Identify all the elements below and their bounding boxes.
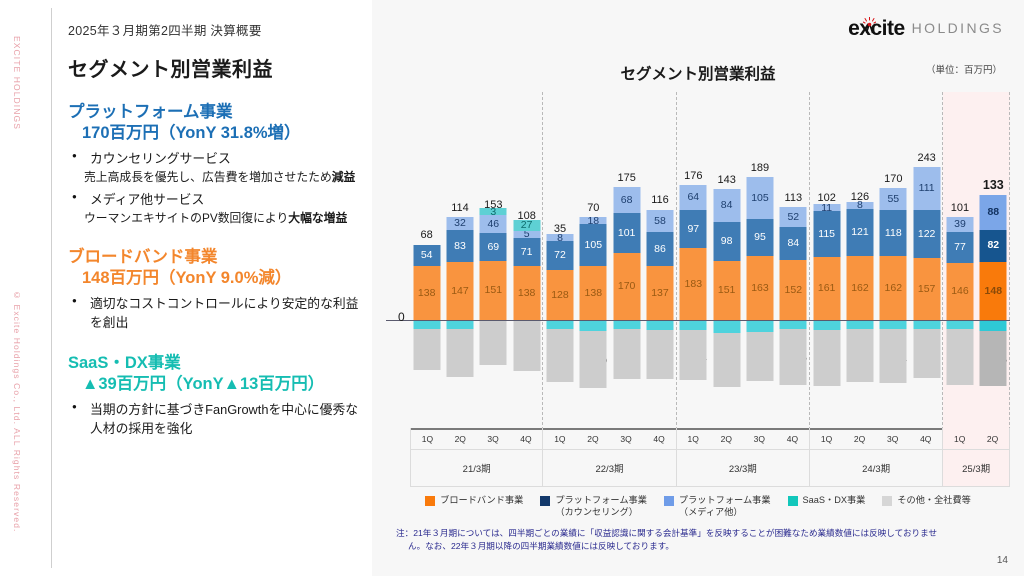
bar-segment-saas-negative [546,320,573,329]
positive-stack: 1378658 [646,210,673,321]
bar-column[interactable]: 1385468▲17▲106 [410,92,443,430]
segment-heading-line2: ▲39百万円（YonY▲13百万円） [68,374,368,395]
positive-stack: 17010168 [613,187,640,320]
segment-bullets-platform: カウンセリングサービス売上高成長を優先し、広告費を増加させたため減益メディア他サ… [68,150,368,227]
negative-stack [713,320,740,387]
bar-column[interactable]: 1467739101▲14▲147 [943,92,976,430]
bar-segment-value: 151 [485,285,503,296]
logo-spark-icon [863,17,876,34]
bar-segment-other [946,329,973,385]
bar-column[interactable]: 1381051870▲41▲150 [577,92,610,430]
negative-stack [546,320,573,382]
negative-stack [946,320,973,385]
bar-segment-value: 72 [554,250,566,261]
bar-segment-value: 69 [487,242,499,253]
bar-total-label: 189 [751,162,769,174]
bar-segment-other [613,329,640,379]
bar-segment-bb: 148 [980,262,1007,320]
bar-total-label: 175 [617,172,635,184]
positive-stack: 1621218 [846,202,873,320]
positive-stack: 1467739 [946,217,973,320]
footnote-line-2: ん。なお、22年３月期以降の四半期業績数値には反映しております。 [396,540,1004,553]
bar-total-label: 101 [951,202,969,214]
bar-segment-bb: 138 [513,266,540,320]
bar-groups: 1385468▲17▲1061478332114▲22▲126151694631… [410,92,1010,430]
positive-stack: 16211855 [880,188,907,320]
positive-stack: 1478332 [446,217,473,320]
bar-segment-bb: 152 [780,260,807,320]
bar-segment-other [646,330,673,379]
bar-segment-value: 84 [721,200,733,211]
bar-segment-other [813,330,840,386]
bar-segment-value: 138 [418,288,436,299]
bar-segment-value: 183 [685,279,703,290]
bar-segment-pf_media: 11 [813,204,840,211]
bar-segment-pf_counseling: 95 [746,219,773,256]
list-item: 当期の方針に基づきFanGrowthを中心に優秀な人材の採用を強化 [68,401,368,439]
negative-stack [446,320,473,377]
bar-segment-pf_media: 46 [480,215,507,233]
axis-quarter-label: 1Q [543,428,576,449]
positive-stack: 157122111 [913,167,940,320]
axis-groups: 1Q2Q3Q4Q21/3期1Q2Q3Q4Q22/3期1Q2Q3Q4Q23/3期1… [410,428,1010,487]
bullet-main-text: 当期の方針に基づきFanGrowthを中心に優秀な人材の採用を強化 [90,402,358,436]
bar-total-label: 143 [717,174,735,186]
bar-segment-bb: 151 [713,261,740,320]
negative-stack [613,320,640,379]
bar-segment-value: 122 [918,229,936,240]
bar-segment-bb: 161 [813,257,840,320]
negative-stack [746,320,773,381]
bar-segment-value: 52 [787,212,799,223]
bar-column[interactable]: 1621218126▲25▲139 [843,92,876,430]
rail-brand-text: EXCITE HOLDINGS [12,36,22,130]
bar-segment-value: 147 [451,286,469,297]
positive-stack: 1519884 [713,189,740,320]
bar-segment-pf_counseling: 115 [813,211,840,256]
bar-segment-other [680,330,707,380]
bar-total-label: 116 [651,194,669,206]
bar-segment-pf_media: 18 [580,217,607,224]
axis-fiscal-year-label: 23/3期 [677,449,809,486]
rail-copyright-text: © Excite Holdings Co., Ltd. ALL Rights R… [12,290,22,533]
bar-segment-value: 138 [518,288,536,299]
bullet-sub-text: ウーマンエキサイトのPV数回復により大幅な増益 [84,210,368,227]
axis-quarter-row: 1Q2Q3Q4Q [810,428,942,449]
bar-group-22/3期: 12872835▲34▲1391381051870▲41▲15017010168… [543,92,676,430]
bar-segment-value: 86 [654,244,666,255]
bar-segment-value: 163 [751,283,769,294]
excite-holdings-logo: excite HOLDINGS [848,18,1004,39]
bar-segment-bb: 128 [546,270,573,320]
bar-column[interactable]: 1528452113▲29▲146 [777,92,810,430]
bar-segment-saas-negative [580,320,607,331]
axis-group-23/3期: 1Q2Q3Q4Q23/3期 [677,428,810,487]
bar-segment-other [880,329,907,383]
negative-stack [980,320,1007,386]
page-title: セグメント別営業利益 [68,53,368,82]
segment-heading-broadband: ブロードバンド事業148百万円（YonY 9.0%減） [68,247,368,290]
bar-column[interactable]: 15169463153▲117 [477,92,510,430]
bar-total-label: 126 [851,191,869,203]
legend-swatch [664,496,674,506]
bar-segment-pf_media: 88 [980,195,1007,230]
segment-commentary-list: プラットフォーム事業170百万円（YonY 31.8%増）カウンセリングサービス… [68,102,368,439]
bar-segment-bb: 157 [913,258,940,320]
bar-total-label: 114 [451,202,469,214]
axis-fiscal-year-label: 22/3期 [543,449,675,486]
zero-axis-label: 0 [398,310,405,324]
bar-segment-value: 151 [718,285,736,296]
positive-stack: 128728 [546,234,573,320]
axis-quarter-label: 1Q [411,428,444,449]
bar-segment-pf_media: 84 [713,189,740,222]
axis-group-25/3期: 1Q2Q25/3期 [943,428,1010,487]
positive-stack: 1488288 [980,195,1007,320]
legend-swatch [882,496,892,506]
negative-stack [913,320,940,378]
bar-column[interactable]: 1488288133▲39▲146 [977,92,1010,430]
bar-column[interactable]: 13871527108▲134 [510,92,543,430]
bar-total-label: 68 [421,229,433,241]
chart-x-axis: 1Q2Q3Q4Q21/3期1Q2Q3Q4Q22/3期1Q2Q3Q4Q23/3期1… [410,428,1010,487]
bar-segment-saas-negative [713,320,740,333]
legend-item: その他・全社費等 [882,494,971,519]
negative-stack [680,320,707,380]
legend-item: SaaS・DX事業 [788,494,866,519]
bar-segment-bb: 137 [646,266,673,320]
axis-quarter-label: 3Q [477,428,510,449]
bar-segment-saas-negative [446,320,473,329]
axis-quarter-label: 4Q [643,428,676,449]
axis-quarter-label: 2Q [710,428,743,449]
axis-quarter-label: 4Q [776,428,809,449]
bar-segment-pf_counseling: 121 [846,209,873,257]
bar-segment-value: 11 [821,203,832,214]
bar-segment-pf_media: 8 [546,234,573,241]
bar-segment-value: 111 [919,183,935,194]
bar-column[interactable]: 157122111243▲17▲129 [910,92,943,430]
segment-block-saas: SaaS・DX事業▲39百万円（YonY▲13百万円）当期の方針に基づきFanG… [68,353,368,439]
bar-total-label: 102 [817,192,835,204]
bar-segment-bb: 138 [580,266,607,320]
bar-segment-pf_counseling: 71 [513,238,540,266]
axis-quarter-label: 1Q [810,428,843,449]
positive-stack: 13854 [413,245,440,321]
chart-panel: excite HOLDINGS セグメント別営業利益 （単位：百万円） [372,0,1024,576]
bar-column[interactable]: 1478332114▲22▲126 [443,92,476,430]
bar-segment-value: 55 [887,194,899,205]
axis-group-22/3期: 1Q2Q3Q4Q22/3期 [543,428,676,487]
bar-segment-value: 82 [987,240,999,251]
bar-column[interactable]: 1839764176▲37▲131 [677,92,710,430]
bar-total-label: 170 [884,173,902,185]
bar-column[interactable]: 12872835▲34▲139 [543,92,576,430]
list-item: 適切なコストコントロールにより安定的な利益を創出 [68,295,368,333]
bar-segment-value: 88 [987,207,999,218]
bar-segment-pf_counseling: 54 [413,245,440,266]
bar-segment-value: 64 [687,192,699,203]
negative-stack [846,320,873,382]
bar-group-24/3期: 16111511102▲38▲1461621218126▲25▲13916211… [810,92,943,430]
footnote-line-1: 注：21年３月期については、四半期ごとの業績に「収益認識に関する会計基準」を反映… [396,528,937,538]
bar-segment-value: 115 [818,229,835,240]
bar-segment-value: 105 [751,193,769,204]
bar-segment-value: 97 [687,224,699,235]
bar-segment-value: 32 [454,218,466,229]
bar-segment-value: 83 [454,241,466,252]
bar-segment-value: 162 [885,283,903,294]
bar-segment-pf_counseling: 86 [646,232,673,266]
segment-heading-saas: SaaS・DX事業▲39百万円（YonY▲13百万円） [68,353,368,396]
bar-segment-value: 137 [651,288,669,299]
bar-segment-value: 77 [954,242,966,253]
bar-segment-value: 18 [587,216,599,227]
axis-quarter-row: 1Q2Q3Q4Q [677,428,809,449]
bar-segment-saas-negative [413,320,440,329]
bar-segment-pf_media: 68 [613,187,640,214]
legend-item: ブロードバンド事業 [425,494,523,519]
left-rail: EXCITE HOLDINGS © Excite Holdings Co., L… [0,0,44,576]
negative-stack [813,320,840,386]
positive-stack: 1839764 [680,185,707,320]
axis-quarter-label: 3Q [876,428,909,449]
bar-segment-value: 152 [785,285,803,296]
axis-fiscal-year-label: 24/3期 [810,449,942,486]
axis-quarter-label: 1Q [943,428,976,449]
bar-total-label: 35 [554,223,566,235]
bar-segment-other [746,332,773,381]
axis-quarter-label: 3Q [743,428,776,449]
bar-segment-saas-negative [813,320,840,330]
bar-segment-pf_counseling: 118 [880,210,907,256]
bar-segment-pf_media: 8 [846,202,873,209]
bar-segment-saas-negative [646,320,673,330]
axis-group-21/3期: 1Q2Q3Q4Q21/3期 [410,428,543,487]
logo-wordmark: excite [848,17,905,40]
segment-heading-line1: ブロードバンド事業 [68,248,217,266]
bar-segment-saas-negative [613,320,640,329]
segment-heading-line2: 148百万円（YonY 9.0%減） [68,268,368,289]
bar-column[interactable]: 1378658116▲37▲128 [643,92,676,430]
bar-segment-pf_media: 64 [680,185,707,210]
segment-block-broadband: ブロードバンド事業148百万円（YonY 9.0%減）適切なコストコントロールに… [68,247,368,333]
bar-segment-other [413,329,440,370]
bar-segment-pf_media: 32 [446,217,473,230]
bar-column[interactable]: 17010168175▲35▲130 [610,92,643,430]
bar-segment-bb: 151 [480,261,507,320]
bar-segment-value: 138 [585,288,603,299]
bar-column[interactable]: 1519884143▲50▲141 [710,92,743,430]
axis-quarter-label: 2Q [444,428,477,449]
rail-divider [51,8,52,568]
axis-quarter-label: 2Q [576,428,609,449]
bar-segment-value: 162 [851,283,869,294]
segment-heading-line1: プラットフォーム事業 [68,103,233,121]
bar-total-label: 243 [917,152,935,164]
bar-segment-value: 39 [954,219,966,230]
bullet-main-text: 適切なコストコントロールにより安定的な利益を創出 [90,296,358,330]
positive-stack: 15169463 [480,208,507,320]
negative-stack [780,320,807,385]
legend-label: その他・全社費等 [897,494,971,506]
bar-segment-other [713,333,740,387]
left-content-column: 2025年３月期第2四半期 決算概要 セグメント別営業利益 プラットフォーム事業… [68,20,368,439]
segment-heading-line1: SaaS・DX事業 [68,354,181,372]
bar-segment-value: 121 [851,227,869,238]
segment-bullets-broadband: 適切なコストコントロールにより安定的な利益を創出 [68,295,368,333]
chart-footnote: 注：21年３月期については、四半期ごとの業績に「収益認識に関する会計基準」を反映… [396,527,1004,553]
bar-segment-saas-negative [746,320,773,332]
bar-segment-pf_counseling: 83 [446,230,473,263]
negative-stack [413,320,440,370]
positive-stack: 16111511 [813,204,840,320]
negative-stack [580,320,607,388]
bar-segment-pf_media: 111 [913,167,940,211]
bar-segment-pf_media: 55 [880,188,907,210]
bar-segment-value: 98 [721,236,733,247]
legend-label: プラットフォーム事業（カウンセリング） [555,494,647,519]
group-divider [1009,92,1010,430]
bar-group-25/3期: 1467739101▲14▲1471488288133▲39▲146 [943,92,1010,430]
bar-segment-value: 170 [618,281,636,292]
legend-label: SaaS・DX事業 [803,494,866,506]
bar-segment-other [513,320,540,371]
bullet-main-text: カウンセリングサービス [90,151,231,166]
bar-segment-saas-negative [946,320,973,329]
bullet-main-text: メディア他サービス [90,192,204,207]
segment-heading-line2: 170百万円（YonY 31.8%増） [68,123,368,144]
bar-total-label: 108 [517,210,535,222]
bar-segment-saas-negative [913,320,940,329]
bar-segment-value: 68 [621,195,633,206]
legend-swatch [788,496,798,506]
segment-heading-platform: プラットフォーム事業170百万円（YonY 31.8%増） [68,102,368,145]
chart-legend: ブロードバンド事業プラットフォーム事業（カウンセリング）プラットフォーム事業（メ… [372,494,1024,519]
bar-segment-saas-negative [846,320,873,329]
list-item: メディア他サービスウーマンエキサイトのPV数回復により大幅な増益 [68,191,368,227]
legend-label: プラットフォーム事業（メディア他） [679,494,771,519]
positive-stack: 13871527 [513,220,540,320]
bar-column[interactable]: 16211855170▲24▲141 [877,92,910,430]
bar-segment-pf_counseling: 77 [946,232,973,262]
bullet-sub-emphasis: 大幅な増益 [288,211,347,225]
bar-total-label: 133 [983,178,1004,192]
bar-segment-pf_counseling: 98 [713,222,740,261]
bar-segment-saas-negative [780,320,807,329]
bar-segment-value: 71 [521,247,533,258]
axis-quarter-row: 1Q2Q3Q4Q [543,428,675,449]
bar-segment-pf_media: 39 [946,217,973,232]
axis-quarter-label: 1Q [677,428,710,449]
bar-segment-saas-negative [980,320,1007,331]
bar-total-label: 113 [785,192,803,204]
bar-segment-pf_media: 105 [746,177,773,218]
bar-segment-other [546,329,573,382]
bar-group-23/3期: 1839764176▲37▲1311519884143▲50▲141163951… [677,92,810,430]
negative-stack [880,320,907,383]
chart-plot-area: 0 1385468▲17▲1061478332114▲22▲1261516946… [386,92,1010,430]
legend-label: ブロードバンド事業 [440,494,523,506]
bar-total-label: 70 [587,202,599,214]
logo-mark-text: excite [848,18,905,39]
chart-unit-label: （単位：百万円） [926,62,1002,76]
bar-total-label: 176 [684,170,702,182]
page-number: 14 [997,555,1008,566]
legend-sublabel: （メディア他） [679,506,771,518]
list-item: カウンセリングサービス売上高成長を優先し、広告費を増加させたため減益 [68,150,368,186]
bar-segment-bb: 146 [946,263,973,320]
segment-block-platform: プラットフォーム事業170百万円（YonY 31.8%増）カウンセリングサービス… [68,102,368,227]
positive-stack: 13810518 [580,217,607,320]
bar-segment-value: 146 [951,286,969,297]
axis-quarter-row: 1Q2Q3Q4Q [411,428,542,449]
logo-holdings-text: HOLDINGS [912,18,1004,39]
bar-segment-pf_counseling: 122 [913,210,940,258]
bar-segment-bb: 138 [413,266,440,320]
bar-segment-value: 95 [754,232,766,243]
bar-segment-other [580,331,607,388]
axis-fiscal-year-label: 25/3期 [943,449,1009,486]
legend-item: プラットフォーム事業（カウンセリング） [540,494,647,519]
bar-segment-value: 46 [487,219,499,230]
axis-group-24/3期: 1Q2Q3Q4Q24/3期 [810,428,943,487]
axis-quarter-label: 3Q [609,428,642,449]
bar-segment-value: 58 [654,216,666,227]
bar-total-label: 153 [484,199,502,211]
axis-quarter-label: 4Q [509,428,542,449]
bar-segment-other [780,329,807,385]
bar-segment-other [980,331,1007,387]
bullet-sub-text: 売上高成長を優先し、広告費を増加させたため減益 [84,169,368,186]
bar-segment-bb: 147 [446,262,473,320]
bar-segment-value: 101 [618,228,636,239]
bar-segment-pf_counseling: 84 [780,227,807,260]
bar-segment-pf_media: 5 [513,231,540,238]
bar-segment-pf_counseling: 69 [480,233,507,260]
bar-segment-value: 118 [885,228,902,239]
negative-stack [646,320,673,379]
segment-bullets-saas: 当期の方針に基づきFanGrowthを中心に優秀な人材の採用を強化 [68,401,368,439]
slide-kicker: 2025年３月期第2四半期 決算概要 [68,20,368,39]
bar-segment-value: 105 [585,240,603,251]
positive-stack: 1528452 [780,207,807,320]
axis-quarter-row: 1Q2Q [943,428,1009,449]
bar-segment-value: 157 [918,284,936,295]
positive-stack: 16395105 [746,177,773,320]
axis-fiscal-year-label: 21/3期 [411,449,542,486]
bar-segment-pf_counseling: 72 [546,241,573,269]
bar-segment-value: 54 [421,250,433,261]
bar-segment-bb: 162 [846,256,873,320]
slide-root: EXCITE HOLDINGS © Excite Holdings Co., L… [0,0,1024,576]
bar-column[interactable]: 16111511102▲38▲146 [810,92,843,430]
bullet-sub-plain: 売上高成長を優先し、広告費を増加させたため [84,170,332,184]
legend-swatch [540,496,550,506]
legend-item: プラットフォーム事業（メディア他） [664,494,771,519]
negative-stack [513,320,540,371]
bar-segment-other [846,329,873,382]
bar-segment-pf_media: 52 [780,207,807,227]
axis-quarter-label: 4Q [909,428,942,449]
bullet-sub-emphasis: 減益 [332,170,356,184]
bar-column[interactable]: 16395105189▲46▲128 [743,92,776,430]
bar-segment-bb: 163 [746,256,773,320]
bar-segment-bb: 170 [613,253,640,320]
bar-segment-pf_counseling: 82 [980,230,1007,262]
bar-segment-pf_media: 58 [646,210,673,233]
bar-segment-value: 128 [551,290,569,301]
